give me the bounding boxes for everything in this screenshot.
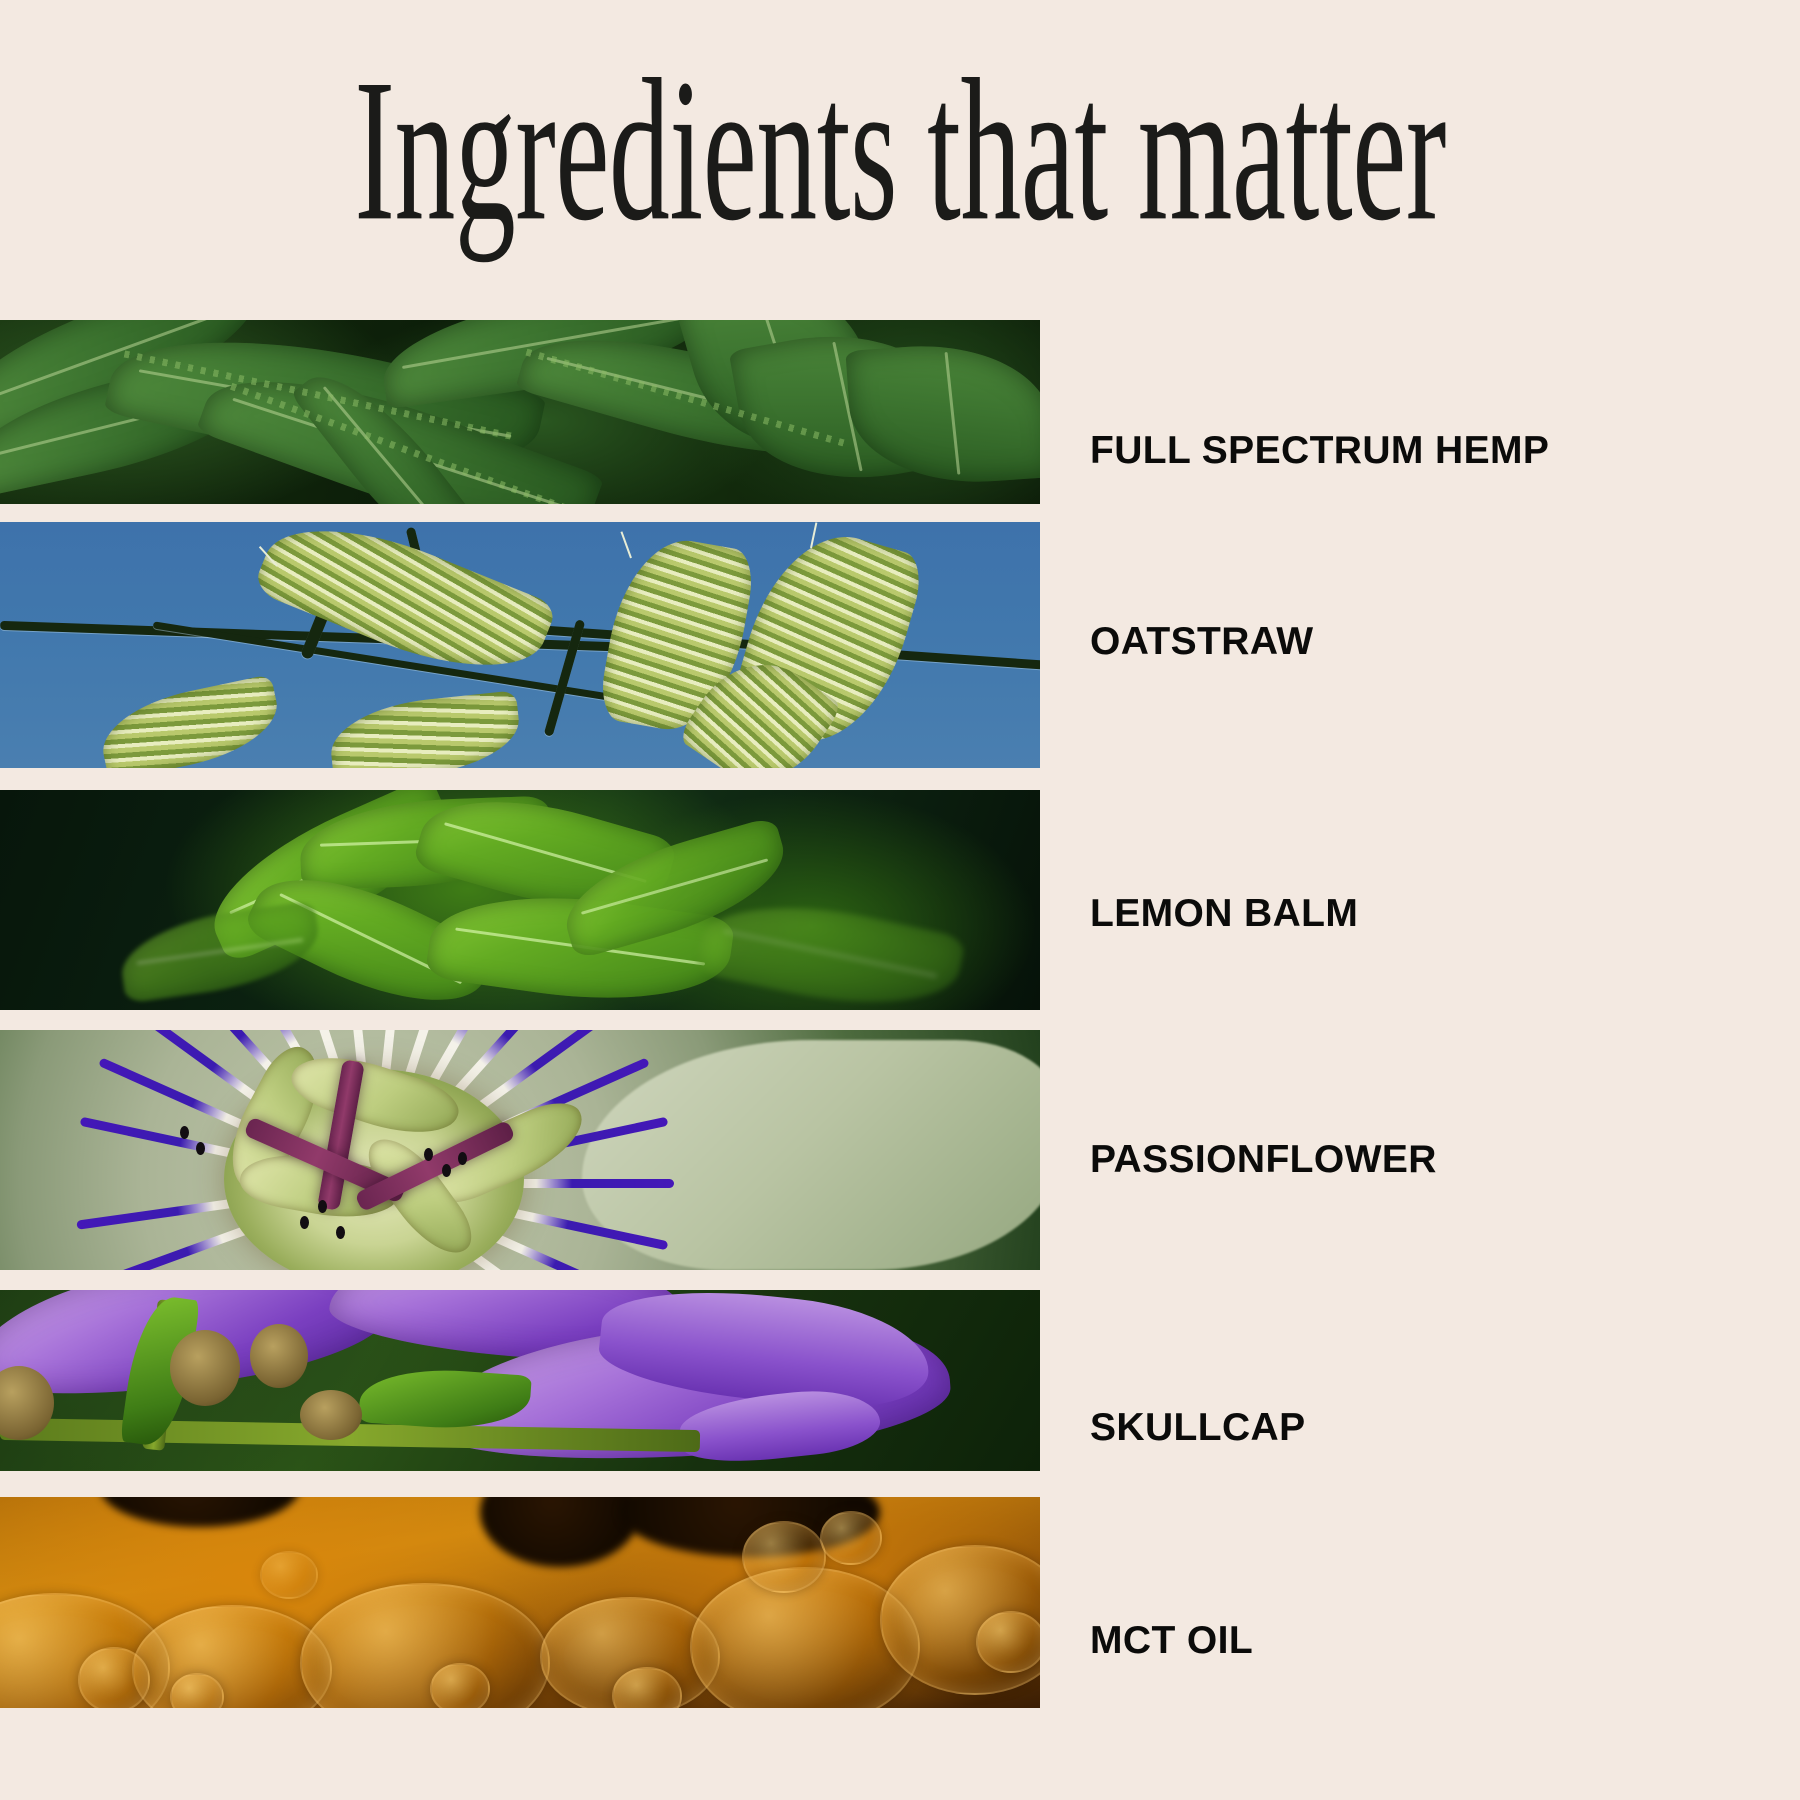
ingredient-list: FULL SPECTRUM HEMP xyxy=(0,0,1800,1800)
ingredient-row-full-spectrum-hemp: FULL SPECTRUM HEMP xyxy=(0,320,1800,504)
skullcap-photo xyxy=(0,1290,1040,1471)
mct-oil-photo xyxy=(0,1497,1040,1708)
ingredient-row-lemon-balm: LEMON BALM xyxy=(0,790,1800,1010)
ingredient-row-oatstraw: OATSTRAW xyxy=(0,522,1800,768)
ingredient-row-passionflower: PASSIONFLOWER xyxy=(0,1030,1800,1270)
ingredient-label: FULL SPECTRUM HEMP xyxy=(1090,431,1549,470)
hemp-leaves-photo xyxy=(0,320,1040,504)
ingredient-label: OATSTRAW xyxy=(1090,622,1313,661)
ingredient-row-skullcap: SKULLCAP xyxy=(0,1290,1800,1471)
ingredient-label: MCT OIL xyxy=(1090,1621,1253,1660)
oatstraw-photo xyxy=(0,522,1040,768)
ingredient-row-mct-oil: MCT OIL xyxy=(0,1497,1800,1708)
ingredient-label: LEMON BALM xyxy=(1090,894,1358,933)
ingredient-label: PASSIONFLOWER xyxy=(1090,1140,1437,1179)
lemon-balm-photo xyxy=(0,790,1040,1010)
ingredient-label: SKULLCAP xyxy=(1090,1408,1306,1447)
passionflower-photo xyxy=(0,1030,1040,1270)
